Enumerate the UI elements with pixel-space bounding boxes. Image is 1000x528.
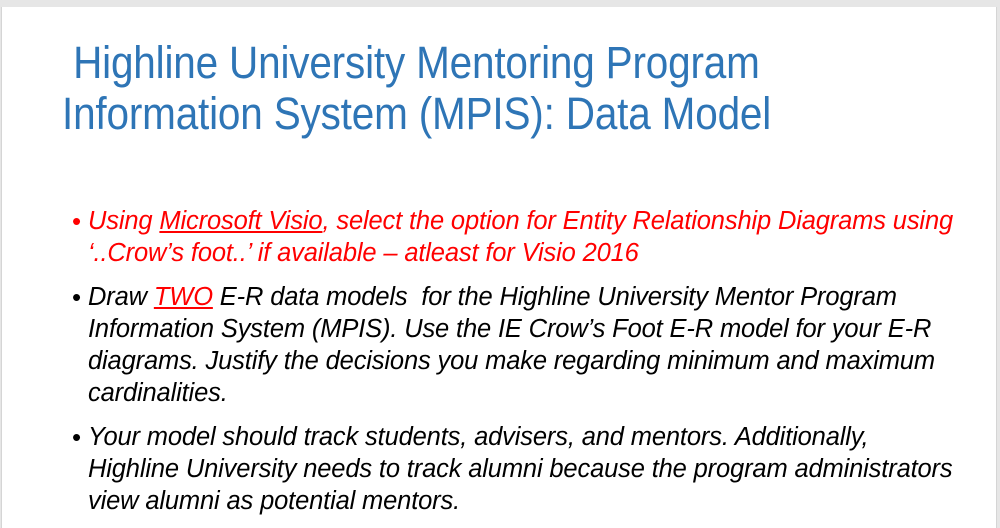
list-item: • Using Microsoft Visio, select the opti… xyxy=(66,205,966,269)
slide-title: Highline University Mentoring Program In… xyxy=(62,37,962,139)
bullet-text-segment: Draw xyxy=(88,283,154,311)
bullet-text-underlined-segment: Microsoft Visio xyxy=(159,207,322,235)
slide-body-bullet-list: • Using Microsoft Visio, select the opti… xyxy=(66,205,966,528)
bullet-text-segment: Using xyxy=(88,207,159,235)
bullet-marker: • xyxy=(66,281,88,313)
list-item: • Your model should track students, advi… xyxy=(66,421,966,517)
slide-title-line-1: Highline University Mentoring Program xyxy=(62,37,872,88)
bullet-text-segment: Your model should track students, advise… xyxy=(88,423,959,515)
slide-canvas: Highline University Mentoring Program In… xyxy=(1,7,997,528)
bullet-text-emphasis-segment: TWO xyxy=(154,283,213,311)
bullet-marker: • xyxy=(66,205,88,237)
bullet-text: Using Microsoft Visio, select the option… xyxy=(88,205,966,269)
list-item: • Draw TWO E-R data models for the Highl… xyxy=(66,281,966,409)
slide-frame: Highline University Mentoring Program In… xyxy=(0,0,1000,528)
bullet-marker: • xyxy=(66,421,88,453)
bullet-text: Draw TWO E-R data models for the Highlin… xyxy=(88,281,966,409)
bullet-text-segment: E-R data models for the Highline Univers… xyxy=(88,283,942,407)
bullet-text: Your model should track students, advise… xyxy=(88,421,966,517)
slide-title-line-2: Information System (MPIS): Data Model xyxy=(62,88,872,139)
